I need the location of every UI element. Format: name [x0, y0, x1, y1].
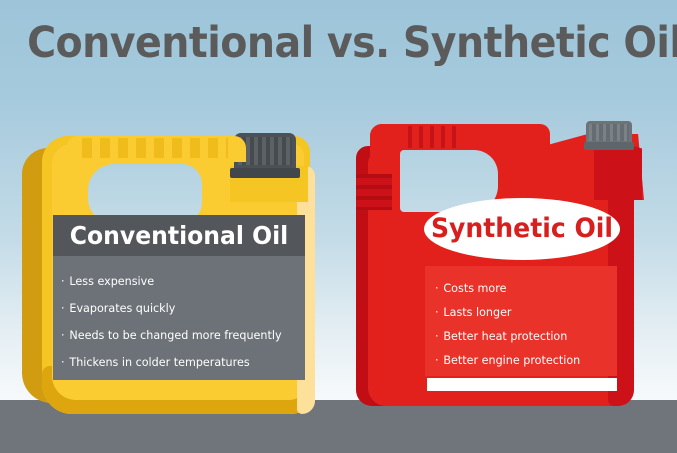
- list-item-label: Evaporates quickly: [69, 301, 175, 315]
- list-item: ·Costs more: [435, 276, 612, 300]
- bullet-dot-icon: ·: [61, 274, 65, 288]
- list-item-label: Better engine protection: [443, 353, 580, 367]
- synthetic-oil-bottle: Synthetic Oil ·Costs more ·Lasts longer …: [356, 118, 656, 415]
- conventional-label-body: ·Less expensive ·Evaporates quickly ·Nee…: [53, 256, 305, 380]
- bottle-cap-ribs: [238, 137, 292, 165]
- bullet-dot-icon: ·: [61, 355, 65, 369]
- synthetic-bullet-list: ·Costs more ·Lasts longer ·Better heat p…: [425, 266, 617, 372]
- list-item-label: Less expensive: [69, 274, 154, 288]
- list-item-label: Better heat protection: [443, 329, 567, 343]
- bottle-cap-ribs: [589, 124, 629, 141]
- conventional-oil-bottle: Conventional Oil ·Less expensive ·Evapor…: [22, 128, 318, 415]
- conventional-bullet-list: ·Less expensive ·Evaporates quickly ·Nee…: [53, 256, 305, 376]
- page-title: Conventional vs. Synthetic Oil: [27, 18, 650, 68]
- bullet-dot-icon: ·: [435, 281, 439, 295]
- conventional-label-title: Conventional Oil: [61, 215, 298, 256]
- bullet-dot-icon: ·: [61, 301, 65, 315]
- infographic-canvas: Conventional vs. Synthetic Oil Conventio…: [0, 0, 677, 453]
- synthetic-label-white-bar: [427, 378, 617, 391]
- list-item-label: Thickens in colder temperatures: [69, 355, 249, 369]
- bottle-handle-ridges: [82, 138, 228, 158]
- bottle-cap-base: [584, 142, 634, 150]
- synthetic-label-title: Synthetic Oil: [431, 198, 613, 260]
- bullet-dot-icon: ·: [435, 305, 439, 319]
- list-item-label: Costs more: [443, 281, 506, 295]
- bullet-dot-icon: ·: [61, 328, 65, 342]
- bottle-handle-bar: [370, 124, 550, 150]
- synthetic-label-body: ·Costs more ·Lasts longer ·Better heat p…: [425, 266, 617, 376]
- list-item: ·Better engine protection: [435, 348, 612, 372]
- bullet-dot-icon: ·: [435, 353, 439, 367]
- list-item: ·Needs to be changed more frequently: [61, 322, 298, 349]
- bottle-cap-base: [230, 168, 300, 178]
- list-item: ·Better heat protection: [435, 324, 612, 348]
- synthetic-label-badge: Synthetic Oil: [424, 198, 620, 260]
- list-item: ·Less expensive: [61, 268, 298, 295]
- bottle-handle-ridges-top: [408, 126, 460, 148]
- bullet-dot-icon: ·: [435, 329, 439, 343]
- list-item: ·Evaporates quickly: [61, 295, 298, 322]
- list-item: ·Thickens in colder temperatures: [61, 349, 298, 376]
- bottle-handle-ridges-left: [356, 174, 392, 210]
- list-item-label: Lasts longer: [443, 305, 511, 319]
- list-item: ·Lasts longer: [435, 300, 612, 324]
- conventional-label-header: Conventional Oil: [53, 215, 305, 256]
- list-item-label: Needs to be changed more frequently: [69, 328, 281, 342]
